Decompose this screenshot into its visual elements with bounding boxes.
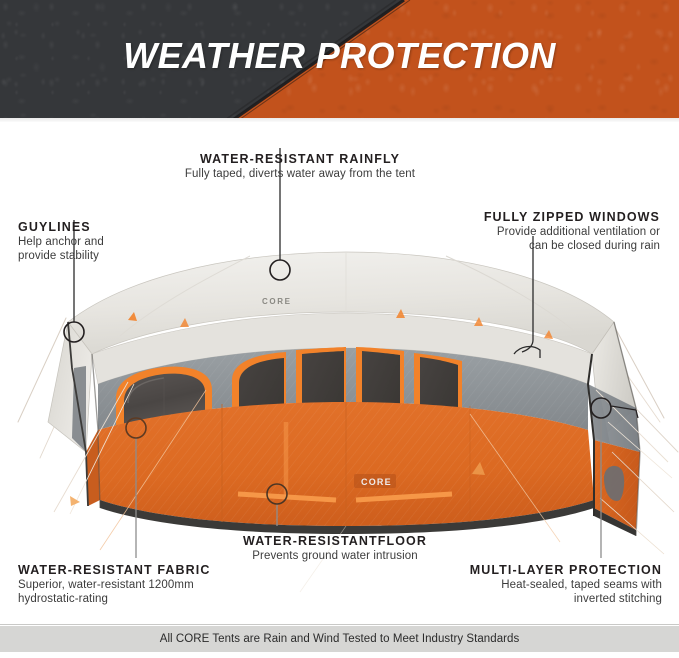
callout-multilayer-title: MULTI-LAYER PROTECTION [430, 563, 662, 578]
infographic-page: WEATHER PROTECTION [0, 0, 679, 658]
callout-floor: WATER-RESISTANTFLOOR Prevents ground wat… [215, 534, 455, 563]
window-side-right[interactable] [524, 394, 566, 456]
rainfly-core-logo: CORE [262, 297, 292, 306]
header-banner: WEATHER PROTECTION [0, 0, 679, 122]
callout-windows-title: FULLY ZIPPED WINDOWS [420, 210, 660, 225]
callout-floor-subtitle-line1: Prevents ground water intrusion [215, 549, 455, 563]
callout-multilayer-subtitle-line2: inverted stitching [430, 592, 662, 606]
footer-bar: All CORE Tents are Rain and Wind Tested … [0, 626, 679, 652]
callout-windows-subtitle-line1: Provide additional ventilation or [420, 225, 660, 239]
callout-guylines: GUYLINES Help anchor and provide stabili… [18, 220, 188, 263]
callout-fabric-subtitle-line2: hydrostatic-rating [18, 592, 278, 606]
callout-guylines-subtitle-line2: provide stability [18, 249, 188, 263]
callout-multilayer-subtitle-line1: Heat-sealed, taped seams with [430, 578, 662, 592]
callout-guylines-subtitle-line1: Help anchor and [18, 235, 188, 249]
callout-floor-title: WATER-RESISTANTFLOOR [215, 534, 455, 549]
callout-fabric-subtitle-line1: Superior, water-resistant 1200mm [18, 578, 278, 592]
wall-core-badge: CORE [354, 474, 396, 488]
footer-divider [0, 624, 679, 625]
svg-text:CORE: CORE [361, 477, 392, 487]
callout-fabric: WATER-RESISTANT FABRIC Superior, water-r… [18, 563, 278, 606]
callout-multilayer: MULTI-LAYER PROTECTION Heat-sealed, tape… [430, 563, 662, 606]
tent-lower-wall: CORE [86, 402, 594, 534]
callout-guylines-title: GUYLINES [18, 220, 188, 235]
footer-text: All CORE Tents are Rain and Wind Tested … [160, 633, 520, 645]
callout-fabric-title: WATER-RESISTANT FABRIC [18, 563, 278, 578]
callout-rainfly-subtitle: Fully taped, diverts water away from the… [150, 167, 450, 181]
callout-rainfly: WATER-RESISTANT RAINFLY Fully taped, div… [150, 152, 450, 181]
callout-windows: FULLY ZIPPED WINDOWS Provide additional … [420, 210, 660, 253]
callout-windows-subtitle-line2: can be closed during rain [420, 239, 660, 253]
page-title: WEATHER PROTECTION [0, 35, 679, 77]
callout-rainfly-title: WATER-RESISTANT RAINFLY [150, 152, 450, 167]
